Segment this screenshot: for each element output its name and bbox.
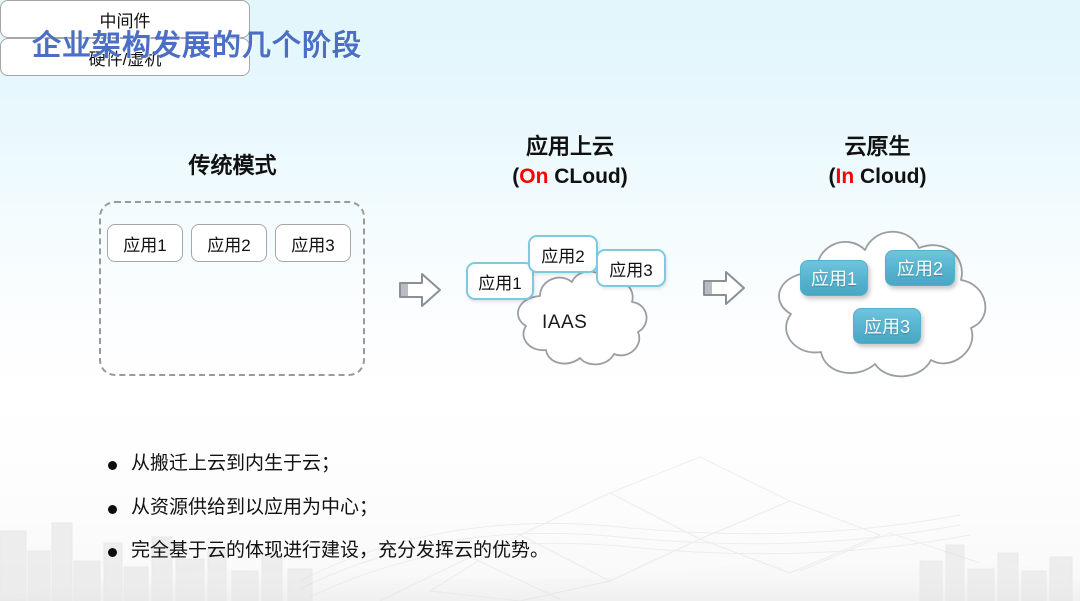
- bullet-text-2: 从资源供给到以应用为中心；: [131, 496, 378, 521]
- list-item: 从资源供给到以应用为中心；: [108, 496, 549, 521]
- bullet-dot-icon: [108, 505, 117, 514]
- traditional-app-2[interactable]: 应用2: [191, 224, 267, 262]
- column-heading-on-cloud: 应用上云 (On CLoud): [440, 133, 700, 190]
- in-cloud-app-1[interactable]: 应用1: [800, 260, 868, 296]
- list-item: 从搬迁上云到内生于云；: [108, 452, 549, 477]
- cloud-native-cloud-shape: [755, 218, 1005, 388]
- column-heading-traditional: 传统模式: [90, 152, 375, 180]
- bullet-list: 从搬迁上云到内生于云； 从资源供给到以应用为中心； 完全基于云的体现进行建设，充…: [108, 452, 549, 583]
- traditional-app-3[interactable]: 应用3: [275, 224, 351, 262]
- slide-canvas: 企业架构发展的几个阶段 传统模式 应用1 应用2 应用3 中间件 硬件/虚机 应…: [0, 0, 1080, 601]
- heading-cn-on-cloud: 应用上云: [440, 133, 700, 161]
- on-cloud-app-2[interactable]: 应用2: [528, 235, 598, 273]
- traditional-app-row: 应用1 应用2 应用3: [107, 224, 351, 262]
- heading-cn-in-cloud: 云原生: [760, 133, 995, 161]
- bullet-text-1: 从搬迁上云到内生于云；: [131, 452, 340, 477]
- on-cloud-app-1[interactable]: 应用1: [466, 262, 534, 300]
- arrow-right-icon-1: [398, 272, 442, 308]
- paren-close-in: ): [920, 165, 927, 188]
- paren-close-on: ): [621, 165, 628, 188]
- heading-en-red-in: In: [836, 165, 855, 188]
- heading-en-on-cloud: (On CLoud): [440, 163, 700, 190]
- heading-en-red-on: On: [519, 165, 548, 188]
- bullet-text-3: 完全基于云的体现进行建设，充分发挥云的优势。: [131, 539, 549, 564]
- in-cloud-app-2[interactable]: 应用2: [885, 250, 955, 286]
- heading-cn-traditional: 传统模式: [90, 152, 375, 180]
- heading-en-black-on: CLoud: [548, 165, 620, 188]
- on-cloud-app-3[interactable]: 应用3: [596, 249, 666, 287]
- list-item: 完全基于云的体现进行建设，充分发挥云的优势。: [108, 539, 549, 564]
- heading-en-black-in: Cloud: [854, 165, 919, 188]
- column-heading-in-cloud: 云原生 (In Cloud): [760, 133, 995, 190]
- page-title: 企业架构发展的几个阶段: [32, 22, 362, 64]
- bullet-dot-icon: [108, 461, 117, 470]
- bullet-dot-icon: [108, 548, 117, 557]
- iaas-cloud-label: IAAS: [542, 312, 587, 334]
- traditional-app-1[interactable]: 应用1: [107, 224, 183, 262]
- heading-en-in-cloud: (In Cloud): [760, 163, 995, 190]
- in-cloud-app-3[interactable]: 应用3: [853, 308, 921, 344]
- arrow-right-icon-2: [702, 270, 746, 306]
- paren-open-in: (: [829, 165, 836, 188]
